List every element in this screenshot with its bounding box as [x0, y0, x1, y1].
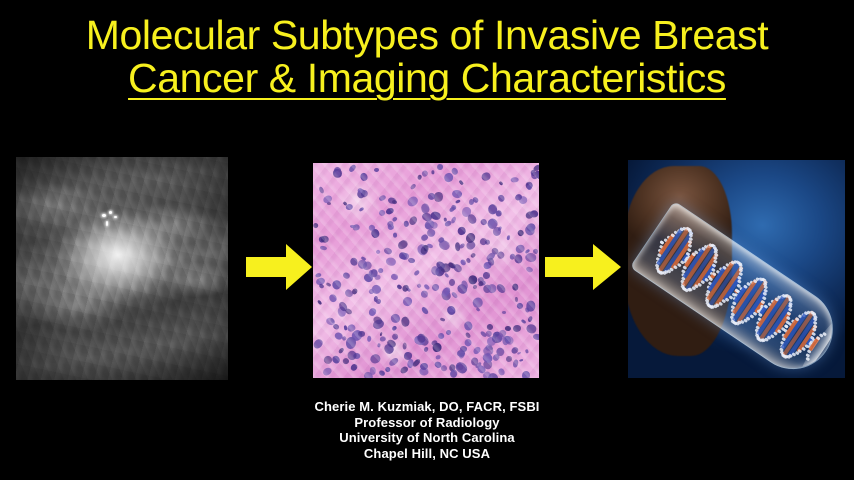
presentation-slide: Molecular Subtypes of Invasive Breast Ca…: [0, 0, 854, 480]
histopathology-image: [313, 163, 539, 378]
mammogram-image: [16, 157, 228, 380]
presenter-institution: University of North Carolina: [0, 430, 854, 446]
slide-title: Molecular Subtypes of Invasive Breast Ca…: [0, 14, 854, 101]
presenter-location: Chapel Hill, NC USA: [0, 446, 854, 462]
presenter-name: Cherie M. Kuzmiak, DO, FACR, FSBI: [0, 399, 854, 415]
dna-test-tube-image: [628, 160, 845, 378]
arrow-histology-to-dna: [545, 242, 621, 292]
arrow-mammogram-to-histology: [246, 242, 312, 292]
title-line-1: Molecular Subtypes of Invasive Breast: [0, 14, 854, 57]
mammogram-vignette: [16, 157, 228, 380]
histology-fiber-texture: [313, 163, 539, 378]
title-line-2: Cancer & Imaging Characteristics: [0, 57, 854, 100]
right-arrow-icon: [545, 242, 621, 292]
presenter-attribution: Cherie M. Kuzmiak, DO, FACR, FSBI Profes…: [0, 399, 854, 461]
presenter-title: Professor of Radiology: [0, 415, 854, 431]
right-arrow-icon: [246, 242, 312, 292]
